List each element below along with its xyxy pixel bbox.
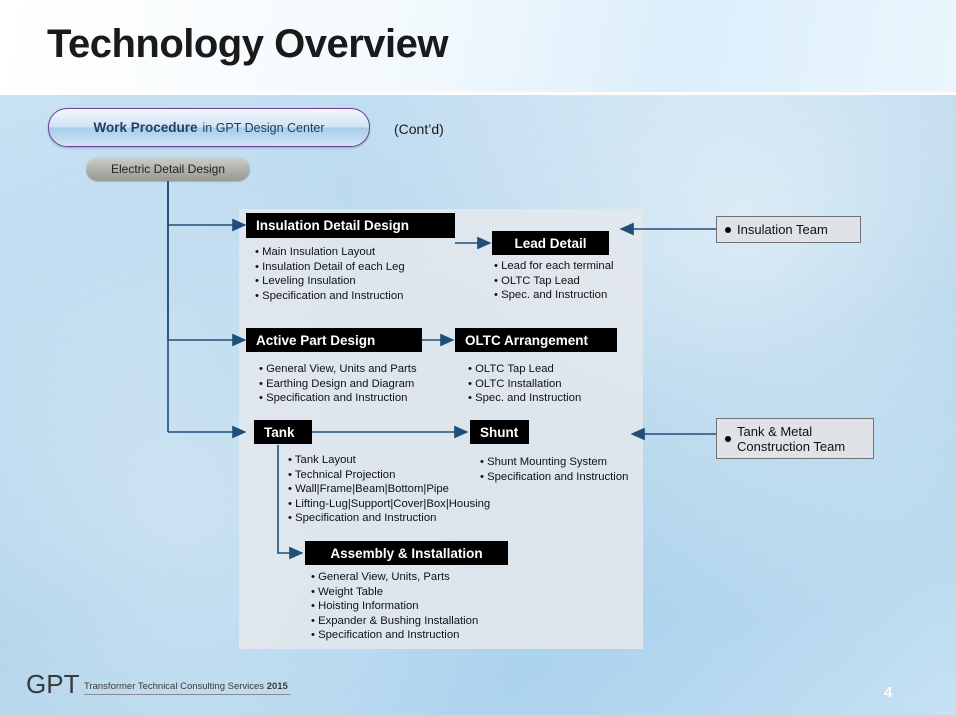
box-shunt[interactable]: Shunt: [470, 420, 529, 444]
slide-canvas: Technology Overview Work Procedure in GP…: [0, 0, 956, 715]
team-tank-metal-label-line1: Tank & Metal: [737, 424, 812, 439]
box-lead-detail-label: Lead Detail: [514, 236, 586, 251]
bullet-item: • Hoisting Information: [311, 599, 561, 614]
bullet-item: • OLTC Tap Lead: [468, 362, 628, 377]
bullets-active-part: • General View, Units and Parts • Earthi…: [259, 362, 474, 406]
bullet-item: • General View, Units, Parts: [311, 570, 561, 585]
bullet-item: • Leveling Insulation: [255, 274, 485, 289]
bullet-item: • OLTC Installation: [468, 377, 628, 392]
box-lead-detail[interactable]: Lead Detail: [492, 231, 609, 255]
electric-detail-design-label: Electric Detail Design: [111, 162, 225, 176]
bullet-item: • Main Insulation Layout: [255, 245, 485, 260]
bullet-item: • Specification and Instruction: [311, 628, 561, 643]
bullets-oltc: • OLTC Tap Lead • OLTC Installation • Sp…: [468, 362, 628, 406]
bullets-insulation: • Main Insulation Layout • Insulation De…: [255, 245, 485, 303]
team-tank-metal-label-line2: Construction Team: [737, 439, 845, 454]
team-tank-metal-construction[interactable]: Tank & Metal Construction Team: [716, 418, 874, 459]
bullet-item: • Lifting-Lug|Support|Cover|Box|Housing: [288, 497, 548, 512]
bullets-lead: • Lead for each terminal • OLTC Tap Lead…: [494, 259, 654, 303]
contd-label: (Cont’d): [394, 121, 444, 137]
bullets-assembly: • General View, Units, Parts • Weight Ta…: [311, 570, 561, 643]
box-active-part-design-label: Active Part Design: [256, 333, 375, 348]
bullet-item: • Earthing Design and Diagram: [259, 377, 474, 392]
box-insulation-detail-design-label: Insulation Detail Design: [256, 218, 409, 233]
box-oltc-arrangement[interactable]: OLTC Arrangement: [455, 328, 617, 352]
work-procedure-label-rest: in GPT Design Center: [203, 121, 325, 135]
bullet-item: • Specification and Instruction: [255, 289, 485, 304]
box-assembly-installation[interactable]: Assembly & Installation: [305, 541, 508, 565]
team-insulation-label: Insulation Team: [737, 222, 828, 237]
bullet-dot-icon: [725, 227, 731, 233]
bullet-item: • Wall|Frame|Beam|Bottom|Pipe: [288, 482, 548, 497]
box-tank-label: Tank: [264, 425, 295, 440]
team-tank-metal-label: Tank & Metal Construction Team: [737, 424, 845, 454]
bullet-item: • Spec. and Instruction: [468, 391, 628, 406]
page-number: 4: [884, 684, 892, 701]
bullet-item: • Insulation Detail of each Leg: [255, 260, 485, 275]
gpt-logo: GPT: [26, 669, 79, 700]
bullet-item: • Specification and Instruction: [480, 470, 660, 485]
work-procedure-pill: Work Procedure in GPT Design Center: [48, 108, 370, 147]
electric-detail-design-capsule: Electric Detail Design: [86, 157, 250, 181]
bullet-item: • Lead for each terminal: [494, 259, 654, 274]
bullet-dot-icon: [725, 436, 731, 442]
bullet-item: • Weight Table: [311, 585, 561, 600]
box-oltc-arrangement-label: OLTC Arrangement: [465, 333, 588, 348]
bullet-item: • Spec. and Instruction: [494, 288, 654, 303]
footer-subtitle-text: Transformer Technical Consulting Service…: [84, 681, 264, 692]
bullet-item: • Specification and Instruction: [259, 391, 474, 406]
footer-subtitle: Transformer Technical Consulting Service…: [84, 681, 290, 695]
bullet-item: • Expander & Bushing Installation: [311, 614, 561, 629]
box-shunt-label: Shunt: [480, 425, 518, 440]
page-title: Technology Overview: [47, 22, 448, 67]
box-assembly-installation-label: Assembly & Installation: [330, 546, 482, 561]
work-procedure-label-bold: Work Procedure: [93, 120, 197, 135]
bullet-item: • OLTC Tap Lead: [494, 274, 654, 289]
bullet-item: • Specification and Instruction: [288, 511, 548, 526]
bullet-item: • General View, Units and Parts: [259, 362, 474, 377]
team-insulation[interactable]: Insulation Team: [716, 216, 861, 243]
box-tank[interactable]: Tank: [254, 420, 312, 444]
box-active-part-design[interactable]: Active Part Design: [246, 328, 422, 352]
box-insulation-detail-design[interactable]: Insulation Detail Design: [246, 213, 455, 238]
bullets-shunt: • Shunt Mounting System • Specification …: [480, 455, 660, 484]
footer-subtitle-year: 2015: [267, 681, 288, 692]
bullet-item: • Shunt Mounting System: [480, 455, 660, 470]
